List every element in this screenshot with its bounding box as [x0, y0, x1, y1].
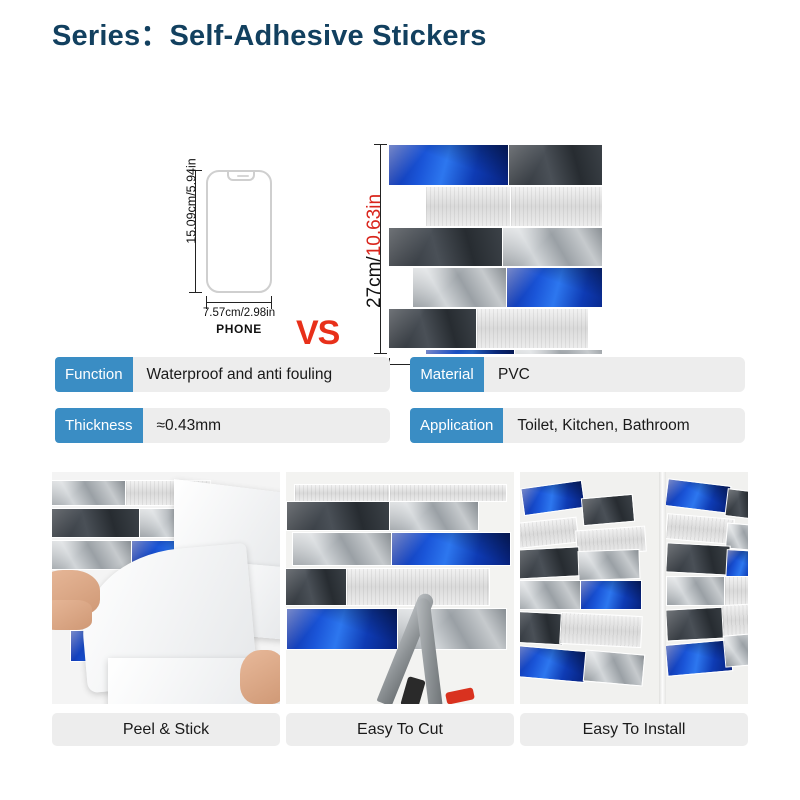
phone-size-diagram: 15.09cm/5.94in 7.57cm/2.98in PHONE	[168, 162, 318, 337]
tile-height-cm: 27cm/	[364, 256, 385, 308]
tile-swatch	[286, 501, 390, 531]
tile-swatch	[52, 480, 126, 506]
spec-row-material: Material PVC	[410, 357, 745, 392]
tile-swatch	[665, 606, 729, 641]
tile-swatch	[666, 576, 728, 606]
feature-gallery: Peel & Stick Easy To Cut	[0, 472, 800, 762]
spec-row-thickness: Thickness ≈0.43mm	[55, 408, 390, 443]
specification-table: Function Waterproof and anti fouling Mat…	[0, 350, 800, 460]
tile-swatch	[723, 632, 748, 667]
tile-swatch	[502, 227, 602, 267]
tile-swatch	[559, 612, 643, 648]
page-header: Series：Self-Adhesive Stickers	[0, 0, 800, 62]
tile-swatch	[665, 513, 735, 545]
phone-speaker-icon	[237, 175, 249, 177]
tile-swatch	[520, 480, 585, 516]
tile-swatch	[724, 488, 748, 520]
tile-swatch	[389, 227, 503, 267]
tile-swatch	[294, 484, 390, 502]
feature-photo	[520, 472, 748, 704]
phone-width-label: 7.57cm/2.98in	[164, 307, 314, 319]
spec-value: Waterproof and anti fouling	[133, 357, 390, 392]
feature-photo	[286, 472, 514, 704]
tile-swatch	[286, 568, 348, 606]
tile-height-in: 10.63in	[364, 194, 385, 256]
phone-name-label: PHONE	[164, 322, 314, 336]
phone-height-tick-bottom	[189, 292, 202, 293]
tile-swatch	[520, 546, 581, 579]
tile-swatch	[389, 484, 507, 502]
phone-height-label: 15.09cm/5.94in	[185, 140, 199, 263]
tile-swatch	[389, 144, 509, 186]
tile-swatch	[52, 540, 132, 570]
feature-easy-to-cut: Easy To Cut	[286, 472, 514, 746]
spec-row-function: Function Waterproof and anti fouling	[55, 357, 390, 392]
spec-row-application: Application Toilet, Kitchen, Bathroom	[410, 408, 745, 443]
tile-swatch	[721, 603, 748, 637]
phone-width-dimension-line	[206, 302, 272, 303]
tile-sheet-illustration	[389, 144, 602, 354]
tile-height-label: 27cm/10.63in	[364, 146, 386, 356]
tile-swatch	[286, 608, 398, 650]
spec-value: PVC	[484, 357, 745, 392]
tile-swatch	[389, 501, 479, 531]
spec-key: Thickness	[55, 408, 143, 443]
tile-swatch	[520, 580, 582, 610]
tile-sheet-diagram: 27cm/10.63in 27cm/10.63in	[360, 72, 620, 337]
spec-key: Material	[410, 357, 484, 392]
feature-photo	[52, 472, 280, 704]
tile-swatch	[520, 611, 565, 646]
feature-peel-and-stick: Peel & Stick	[52, 472, 280, 746]
tile-swatch	[389, 308, 477, 349]
tile-swatch	[510, 186, 602, 227]
size-comparison-section: 15.09cm/5.94in 7.57cm/2.98in PHONE VS	[0, 62, 800, 337]
hand	[240, 650, 280, 704]
feature-caption: Peel & Stick	[52, 713, 280, 746]
tile-swatch	[581, 494, 635, 526]
wall-corner-seam	[659, 472, 666, 704]
spec-value: ≈0.43mm	[143, 408, 390, 443]
tile-swatch	[506, 267, 602, 308]
feature-caption: Easy To Install	[520, 713, 748, 746]
page-title: Series：Self-Adhesive Stickers	[52, 12, 487, 54]
tile-swatch	[508, 144, 602, 186]
feature-easy-to-install: Easy To Install	[520, 472, 748, 746]
spec-value: Toilet, Kitchen, Bathroom	[503, 408, 745, 443]
phone-notch-icon	[227, 172, 255, 181]
tile-swatch	[425, 186, 511, 227]
tile-swatch	[520, 517, 579, 550]
feature-caption: Easy To Cut	[286, 713, 514, 746]
tile-swatch	[292, 532, 392, 566]
tile-swatch	[665, 542, 730, 575]
tile-swatch	[665, 478, 732, 514]
tile-swatch	[412, 267, 507, 308]
phone-illustration	[206, 170, 272, 293]
spec-key: Function	[55, 357, 133, 392]
tile-swatch	[724, 576, 748, 606]
tile-swatch	[52, 508, 140, 538]
hand	[52, 600, 92, 630]
tile-swatch	[583, 649, 646, 686]
tile-swatch	[577, 549, 640, 581]
tile-height-tick-top	[374, 144, 387, 145]
tile-swatch	[391, 532, 511, 566]
spec-key: Application	[410, 408, 503, 443]
vs-label: VS	[296, 314, 339, 353]
tile-swatch	[580, 580, 642, 610]
tile-swatch	[520, 645, 587, 683]
tile-swatch	[476, 308, 589, 349]
